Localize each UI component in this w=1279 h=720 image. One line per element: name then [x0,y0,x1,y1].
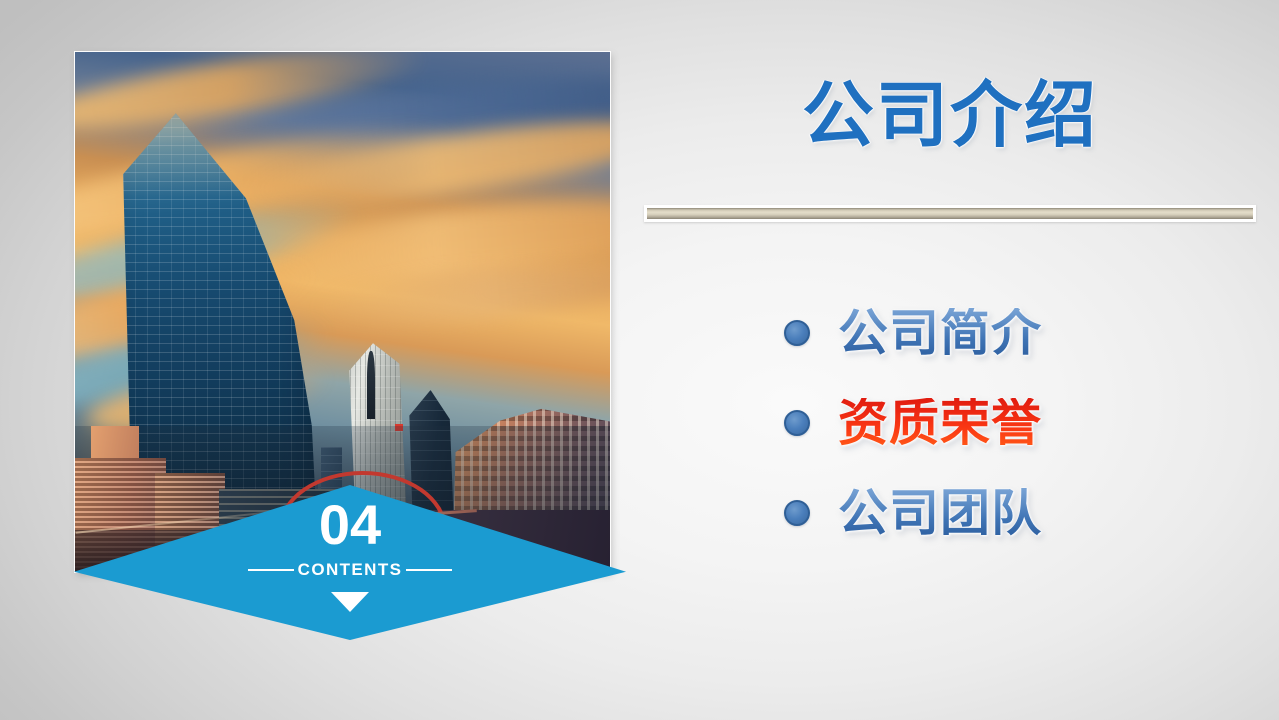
bullet-circle-icon [784,410,810,436]
tower-slot [367,351,376,419]
bullet-circle-icon [784,320,810,346]
contents-item-label: 公司团队 [838,488,1042,538]
contents-item-label: 公司简介 [838,308,1042,358]
contents-list: 公司简介 资质荣誉 公司团队 [644,288,1256,558]
contents-item-3[interactable]: 公司团队 [644,468,1256,558]
contents-item-2[interactable]: 资质荣誉 [644,378,1256,468]
title-divider [644,205,1256,222]
contents-item-label: 资质荣誉 [838,398,1042,448]
contents-item-1[interactable]: 公司简介 [644,288,1256,378]
presentation-slide: 04 CONTENTS 公司介绍 公司简介 资质荣誉 公司团队 [0,0,1279,720]
page-title: 公司介绍 [644,80,1256,152]
bullet-circle-icon [784,500,810,526]
divider-bar [647,208,1253,219]
